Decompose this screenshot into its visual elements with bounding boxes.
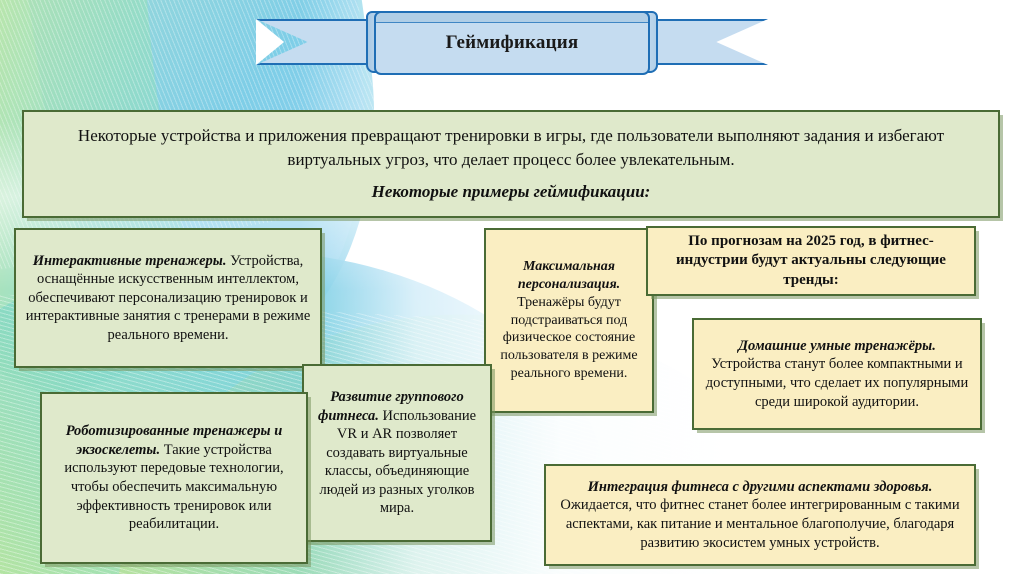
card-fitness-integration: Интеграция фитнеса с другими аспектами з… [544, 464, 976, 566]
card-group-fitness: Развитие группового фитнеса. Использован… [302, 364, 492, 542]
card-integration-text: Интеграция фитнеса с другими аспектами з… [555, 478, 965, 552]
card-group-text: Развитие группового фитнеса. Использован… [313, 388, 481, 518]
card-home-text: Домашние умные тренажёры. Устройства ста… [703, 337, 971, 411]
card-integration-body: Ожидается, что фитнес станет более интег… [560, 497, 959, 550]
banner-plate: Геймификация [374, 11, 650, 75]
title-banner: Геймификация [256, 5, 768, 85]
card-home-lead: Домашние умные тренажёры. [738, 338, 936, 354]
card-2025-forecast-heading: По прогнозам на 2025 год, в фитнес-индус… [646, 226, 976, 296]
card-interactive-lead: Интерактивные тренажеры. [33, 253, 227, 269]
card-interactive-text: Интерактивные тренажеры. Устройства, осн… [25, 252, 311, 345]
card-personalization-lead: Максимальная персонализация. [518, 259, 620, 292]
intro-text-box: Некоторые устройства и приложения превра… [22, 110, 1000, 218]
card-robotic-trainers: Роботизированные тренажеры и экзоскелеты… [40, 392, 308, 564]
intro-body: Некоторые устройства и приложения превра… [46, 124, 976, 172]
slide-canvas: Геймификация Некоторые устройства и прил… [0, 0, 1024, 574]
page-title: Геймификация [446, 32, 579, 54]
card-home-smart-trainers: Домашние умные тренажёры. Устройства ста… [692, 318, 982, 430]
card-integration-lead: Интеграция фитнеса с другими аспектами з… [588, 479, 933, 495]
card-robot-text: Роботизированные тренажеры и экзоскелеты… [51, 422, 297, 533]
card-maximum-personalization: Максимальная персонализация. Тренажёры б… [484, 228, 654, 413]
card-interactive-trainers: Интерактивные тренажеры. Устройства, осн… [14, 228, 322, 368]
card-personalization-text: Максимальная персонализация. Тренажёры б… [495, 258, 643, 383]
card-personalization-body: Тренажёры будут подстраиваться под физич… [500, 295, 637, 382]
intro-lead: Некоторые примеры геймификации: [46, 180, 976, 204]
card-forecast-text: По прогнозам на 2025 год, в фитнес-индус… [657, 232, 965, 290]
card-home-body: Устройства станут более компактными и до… [706, 356, 969, 409]
